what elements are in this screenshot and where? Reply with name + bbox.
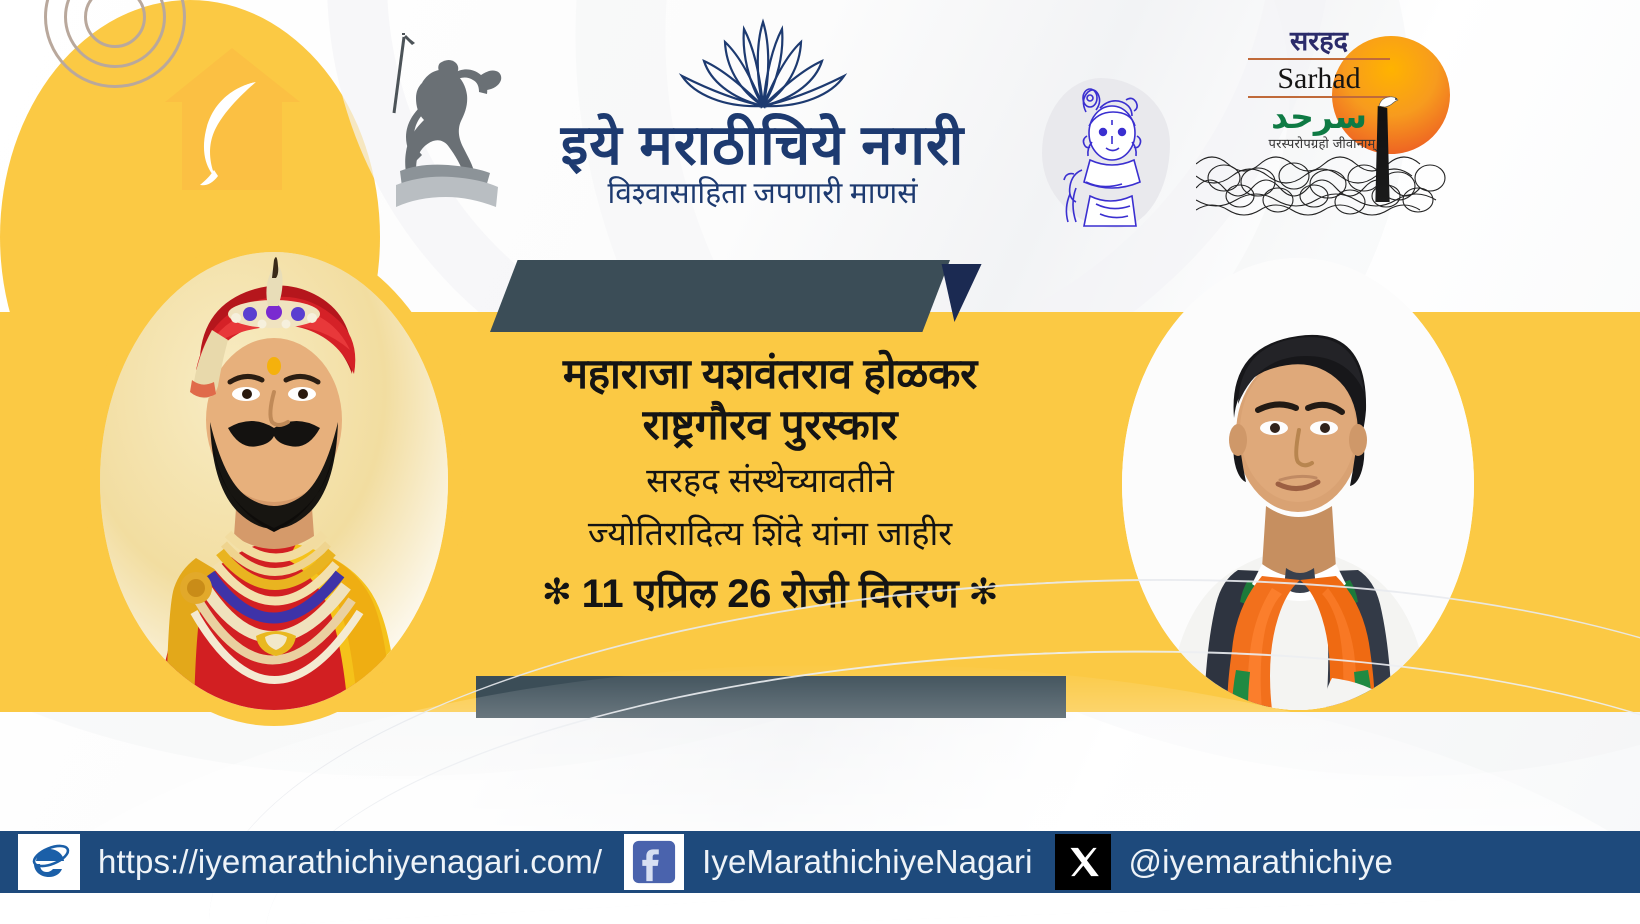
x-handle-label[interactable]: @iyemarathichiye xyxy=(1129,843,1393,881)
announcement-text-block: महाराजा यशवंतराव होळकर राष्ट्रगौरव पुरस्… xyxy=(460,348,1080,619)
brand-lockup: इये मराठीचिये नगरी विश्वासाहिता जपणारी म… xyxy=(480,16,1045,209)
dove-icon xyxy=(1376,94,1402,110)
sarhad-logo: सरहद Sarhad سرحد परस्परोपग्रहो जीवानाम् xyxy=(1196,22,1446,212)
poster-canvas: इये मराठीचिये नगरी विश्वासाहिता जपणारी म… xyxy=(0,0,1640,924)
facebook-handle-label[interactable]: IyeMarathichiyeNagari xyxy=(702,843,1032,881)
barbed-wire-icon xyxy=(1196,142,1446,216)
award-title-line-2: राष्ट्रगौरव पुरस्कार xyxy=(460,399,1080,450)
sarhad-devanagari: सरहद xyxy=(1254,28,1384,55)
lotus-icon xyxy=(668,16,858,121)
ornament-left-icon: ✻ xyxy=(542,574,572,610)
sarhad-urdu: سرحد xyxy=(1248,100,1390,133)
website-url-label[interactable]: https://iyemarathichiyenagari.com/ xyxy=(98,843,602,881)
header-accent-bar xyxy=(490,260,950,332)
award-subtitle-line-1: सरहद संस्थेच्यावतीने xyxy=(460,460,1080,503)
header-triangle-accent xyxy=(934,264,981,322)
brand-tagline: विश्वासाहिता जपणारी माणसं xyxy=(480,179,1045,209)
social-footer-bar: https://iyemarathichiyenagari.com/ IyeMa… xyxy=(0,831,1640,893)
award-title-line-1: महाराजा यशवंतराव होळकर xyxy=(460,348,1080,399)
left-portrait xyxy=(100,252,448,710)
award-subtitle-line-2: ज्योतिरादित्य शिंदे यांना जाहीर xyxy=(460,513,1080,556)
house-quill-logo xyxy=(160,44,305,194)
internet-explorer-icon[interactable] xyxy=(18,834,80,890)
brand-title: इये मराठीचिये नगरी xyxy=(480,117,1045,173)
sarhad-latin: Sarhad xyxy=(1248,64,1390,94)
x-twitter-icon[interactable] xyxy=(1055,834,1111,890)
facebook-icon[interactable] xyxy=(624,834,684,890)
krishna-illustration-icon xyxy=(1042,78,1170,228)
